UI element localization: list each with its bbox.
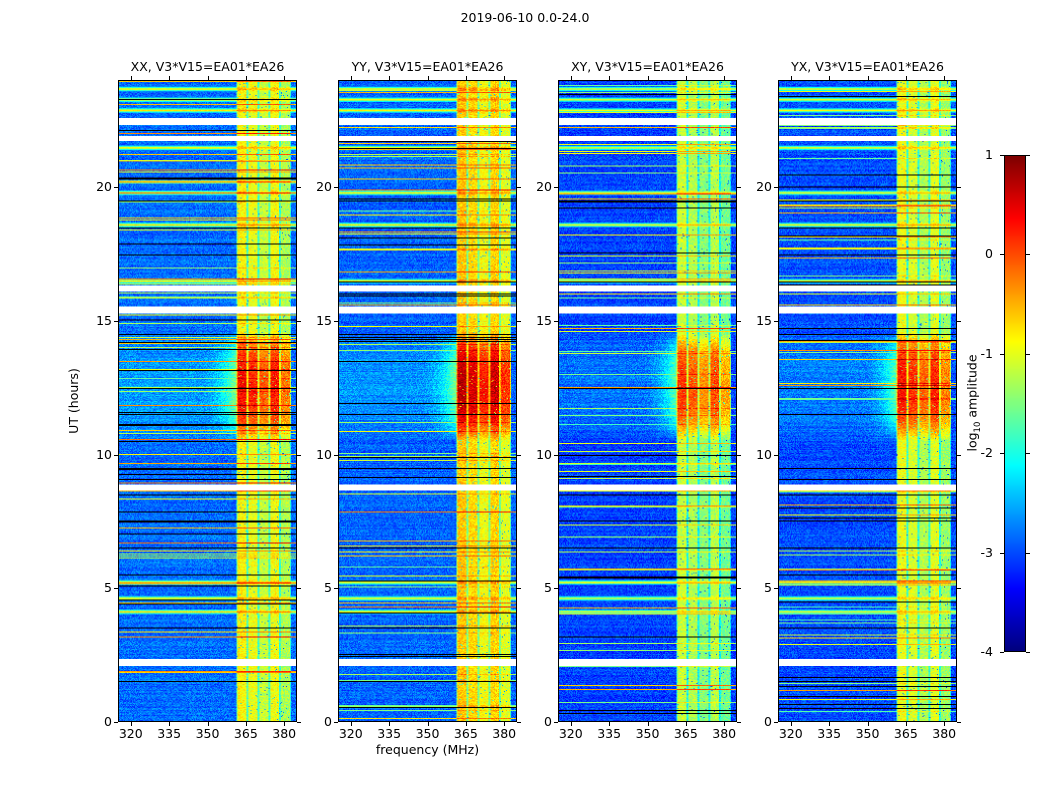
colorbar-tick xyxy=(1026,652,1030,653)
colorbar-tick-inner xyxy=(1000,354,1004,355)
y-tick-label: 5 xyxy=(104,581,112,595)
x-tick-top xyxy=(944,76,945,80)
panel-axes[interactable] xyxy=(778,80,957,722)
panel-axes[interactable] xyxy=(338,80,517,722)
panel-axes[interactable] xyxy=(558,80,737,722)
colorbar-tick-inner xyxy=(1000,553,1004,554)
colorbar-tick-inner xyxy=(1000,652,1004,653)
x-tick-top xyxy=(351,76,352,80)
x-tick-label: 380 xyxy=(492,727,516,741)
colorbar-tick xyxy=(1026,553,1030,554)
y-tick-right xyxy=(517,187,521,188)
y-tick-label: 0 xyxy=(764,715,772,729)
x-tick-label: 380 xyxy=(712,727,736,741)
x-tick-top xyxy=(648,76,649,80)
x-tick-label: 380 xyxy=(932,727,956,741)
colorbar-tick-label: -4 xyxy=(981,645,993,659)
y-tick-label: 10 xyxy=(756,448,772,462)
y-tick-label: 5 xyxy=(764,581,772,595)
colorbar-tick-label: 1 xyxy=(985,148,993,162)
y-tick-right xyxy=(517,455,521,456)
spectrogram-image xyxy=(779,81,956,721)
x-tick-top xyxy=(868,76,869,80)
x-tick-top xyxy=(829,76,830,80)
y-tick-right xyxy=(957,455,961,456)
y-tick-right xyxy=(297,722,301,723)
y-tick-label: 15 xyxy=(316,314,332,328)
colorbar-tick xyxy=(1026,254,1030,255)
y-tick xyxy=(334,722,338,723)
colorbar-tick-inner xyxy=(1000,155,1004,156)
y-tick-right xyxy=(737,588,741,589)
x-tick-label: 365 xyxy=(894,727,918,741)
y-tick-right xyxy=(517,722,521,723)
y-tick-label: 20 xyxy=(536,180,552,194)
y-tick-right xyxy=(737,455,741,456)
y-tick-label: 20 xyxy=(96,180,112,194)
y-tick-label: 0 xyxy=(544,715,552,729)
spectrogram-image xyxy=(559,81,736,721)
colorbar-tick xyxy=(1026,354,1030,355)
figure-suptitle: 2019-06-10 0.0-24.0 xyxy=(0,11,1050,25)
y-tick-label: 10 xyxy=(316,448,332,462)
x-tick-top xyxy=(571,76,572,80)
y-tick xyxy=(774,187,778,188)
panel-title: XY, V3*V15=EA01*EA26 xyxy=(571,60,724,74)
colorbar-tick xyxy=(1026,155,1030,156)
x-tick-top xyxy=(906,76,907,80)
x-tick-top xyxy=(609,76,610,80)
y-tick xyxy=(554,187,558,188)
y-tick xyxy=(114,187,118,188)
y-tick-right xyxy=(297,321,301,322)
panel-yx[interactable]: YX, V3*V15=EA01*EA2632033535036538005101… xyxy=(778,80,957,722)
y-tick xyxy=(334,321,338,322)
y-tick-right xyxy=(297,588,301,589)
y-tick xyxy=(554,588,558,589)
x-tick-top xyxy=(504,76,505,80)
x-tick-label: 380 xyxy=(272,727,296,741)
y-tick-right xyxy=(297,187,301,188)
y-tick-label: 15 xyxy=(536,314,552,328)
x-tick-label: 335 xyxy=(817,727,841,741)
x-tick-label: 335 xyxy=(597,727,621,741)
y-tick xyxy=(774,455,778,456)
y-tick-right xyxy=(957,588,961,589)
x-tick-top xyxy=(466,76,467,80)
y-tick-label: 10 xyxy=(96,448,112,462)
panel-xx[interactable]: XX, V3*V15=EA01*EA2632033535036538005101… xyxy=(118,80,297,722)
colorbar-label: log10 amplitude xyxy=(965,354,985,451)
x-tick-top xyxy=(389,76,390,80)
spectrogram-holder xyxy=(339,81,516,721)
y-tick xyxy=(114,722,118,723)
y-tick xyxy=(554,722,558,723)
y-tick-label: 15 xyxy=(96,314,112,328)
y-tick xyxy=(114,455,118,456)
y-tick-label: 5 xyxy=(324,581,332,595)
x-tick-label: 335 xyxy=(157,727,181,741)
y-tick-label: 0 xyxy=(104,715,112,729)
y-tick xyxy=(774,588,778,589)
x-tick-top xyxy=(791,76,792,80)
y-tick-label: 10 xyxy=(536,448,552,462)
y-tick-right xyxy=(297,455,301,456)
y-tick-right xyxy=(737,722,741,723)
y-tick-label: 15 xyxy=(756,314,772,328)
spectrogram-holder xyxy=(559,81,736,721)
y-tick xyxy=(114,321,118,322)
x-axis-label: frequency (MHz) xyxy=(118,743,737,757)
x-tick-top xyxy=(724,76,725,80)
x-tick-top xyxy=(131,76,132,80)
panel-axes[interactable] xyxy=(118,80,297,722)
y-tick-label: 0 xyxy=(324,715,332,729)
x-tick-top xyxy=(246,76,247,80)
figure-canvas: 2019-06-10 0.0-24.0 XX, V3*V15=EA01*EA26… xyxy=(0,0,1050,800)
colorbar-tick-inner xyxy=(1000,254,1004,255)
colorbar-tick-inner xyxy=(1000,453,1004,454)
y-tick xyxy=(114,588,118,589)
y-tick-right xyxy=(957,321,961,322)
spectrogram-image xyxy=(119,81,296,721)
y-tick xyxy=(774,321,778,322)
y-axis-label: UT (hours) xyxy=(67,368,81,434)
x-tick-label: 320 xyxy=(779,727,803,741)
x-tick-label: 350 xyxy=(416,727,440,741)
panel-yy[interactable]: YY, V3*V15=EA01*EA2632033535036538005101… xyxy=(338,80,517,722)
panel-xy[interactable]: XY, V3*V15=EA01*EA2632033535036538005101… xyxy=(558,80,737,722)
spectrogram-image xyxy=(339,81,516,721)
y-tick-label: 20 xyxy=(316,180,332,194)
y-tick-right xyxy=(957,187,961,188)
x-tick-top xyxy=(428,76,429,80)
x-tick-top xyxy=(208,76,209,80)
y-tick xyxy=(554,321,558,322)
y-tick-right xyxy=(737,187,741,188)
x-tick-label: 320 xyxy=(339,727,363,741)
colorbar-tick xyxy=(1026,453,1030,454)
x-tick-label: 365 xyxy=(454,727,478,741)
y-tick-label: 20 xyxy=(756,180,772,194)
y-tick xyxy=(554,455,558,456)
colorbar[interactable] xyxy=(1004,155,1026,652)
x-tick-label: 350 xyxy=(856,727,880,741)
y-tick xyxy=(334,588,338,589)
colorbar-tick-label: -3 xyxy=(981,546,993,560)
x-tick-label: 365 xyxy=(234,727,258,741)
y-tick xyxy=(334,455,338,456)
y-tick-right xyxy=(517,321,521,322)
y-tick-right xyxy=(517,588,521,589)
panel-title: YX, V3*V15=EA01*EA26 xyxy=(791,60,944,74)
y-tick xyxy=(774,722,778,723)
colorbar-gradient xyxy=(1005,156,1025,651)
y-tick-right xyxy=(737,321,741,322)
x-tick-label: 365 xyxy=(674,727,698,741)
panel-title: XX, V3*V15=EA01*EA26 xyxy=(131,60,285,74)
x-tick-label: 350 xyxy=(196,727,220,741)
y-tick-label: 5 xyxy=(544,581,552,595)
spectrogram-holder xyxy=(779,81,956,721)
colorbar-tick-label: 0 xyxy=(985,247,993,261)
panel-title: YY, V3*V15=EA01*EA26 xyxy=(352,60,504,74)
x-tick-top xyxy=(284,76,285,80)
spectrogram-holder xyxy=(119,81,296,721)
y-tick xyxy=(334,187,338,188)
x-tick-label: 350 xyxy=(636,727,660,741)
x-tick-top xyxy=(686,76,687,80)
x-tick-top xyxy=(169,76,170,80)
x-tick-label: 335 xyxy=(377,727,401,741)
x-tick-label: 320 xyxy=(119,727,143,741)
x-tick-label: 320 xyxy=(559,727,583,741)
y-tick-right xyxy=(957,722,961,723)
